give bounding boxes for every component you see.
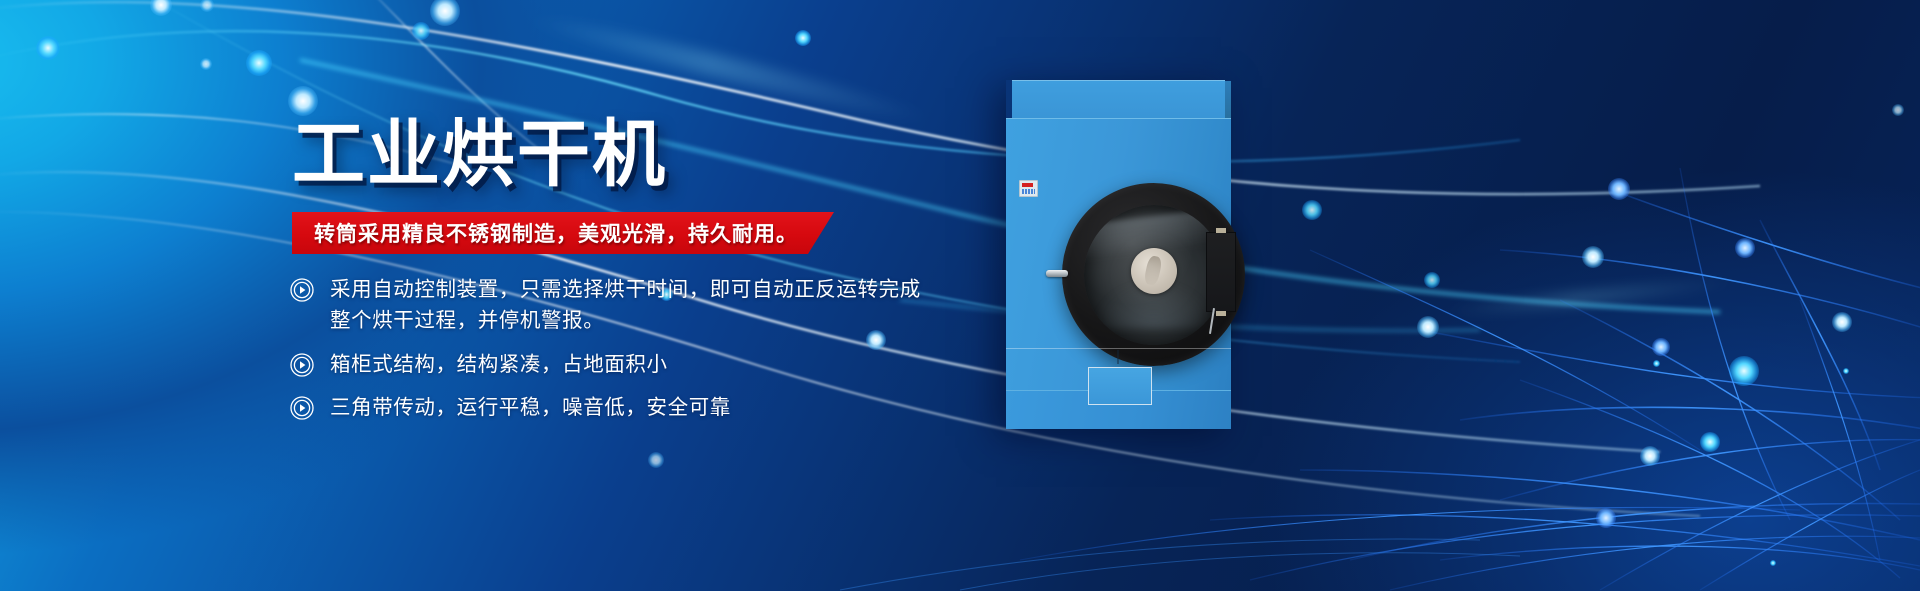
top-left-curves (0, 0, 1760, 516)
panel-keypad (1022, 189, 1035, 194)
feature-line: 整个烘干过程，并停机警报。 (330, 306, 921, 337)
glow-node (412, 22, 430, 40)
circle-play-icon (290, 353, 314, 377)
industrial-dryer-machine (1006, 80, 1231, 428)
glow-node (1417, 316, 1439, 338)
glow-node (1608, 178, 1630, 200)
lint-drawer (1088, 367, 1152, 405)
light-sheen (1440, 274, 1740, 319)
glow-node (1302, 200, 1322, 220)
glow-node (36, 36, 60, 60)
glow-node (200, 58, 212, 70)
list-item: 箱柜式结构，结构紧凑，占地面积小 (290, 350, 1050, 381)
glow-node (1892, 104, 1904, 116)
glow-node (1652, 338, 1670, 356)
machine-seam (1117, 350, 1119, 364)
glow-node (1729, 356, 1759, 386)
list-item: 三角带传动，运行平稳，噪音低，安全可靠 (290, 393, 1050, 424)
glow-node (288, 86, 318, 116)
circle-play-icon (290, 396, 314, 420)
glow-node (150, 0, 172, 16)
hero-title-wrap: 工业烘干机 (292, 118, 667, 191)
glow-node (1735, 238, 1755, 258)
glow-node (246, 50, 272, 76)
door-hinge (1206, 232, 1236, 312)
tagline-text: 转筒采用精良不锈钢制造，美观光滑，持久耐用。 (314, 218, 798, 248)
glow-node (1640, 446, 1660, 466)
glow-node (1832, 312, 1852, 332)
glow-node (795, 30, 811, 46)
door-handle (1046, 270, 1068, 277)
glow-node (1770, 560, 1776, 566)
feature-line: 箱柜式结构，结构紧凑，占地面积小 (330, 350, 668, 381)
circle-play-icon (290, 278, 314, 302)
glow-node (1700, 432, 1720, 452)
feature-list: 采用自动控制装置，只需选择烘干时间，即可自动正反运转完成 整个烘干过程，并停机警… (290, 275, 1050, 437)
machine-top-panel (1012, 80, 1225, 119)
hinge-bolt (1216, 228, 1226, 233)
feature-text: 采用自动控制装置，只需选择烘干时间，即可自动正反运转完成 整个烘干过程，并停机警… (330, 275, 921, 337)
hero-banner: 工业烘干机 转筒采用精良不锈钢制造，美观光滑，持久耐用。 采用自动控制装置，只需… (0, 0, 1920, 591)
glow-node (648, 452, 664, 468)
glow-node (430, 0, 460, 26)
control-panel-icon (1019, 180, 1038, 197)
bottom-mesh (840, 539, 1520, 590)
glow-node (1582, 246, 1604, 268)
list-item: 采用自动控制装置，只需选择烘干时间，即可自动正反运转完成 整个烘干过程，并停机警… (290, 275, 1050, 337)
tagline-banner: 转筒采用精良不锈钢制造，美观光滑，持久耐用。 (292, 212, 834, 254)
glow-node (1653, 360, 1660, 367)
feature-line: 三角带传动，运行平稳，噪音低，安全可靠 (330, 393, 731, 424)
feature-text: 三角带传动，运行平稳，噪音低，安全可靠 (330, 393, 731, 424)
light-sheen (524, 8, 937, 131)
machine-seam (1006, 348, 1231, 349)
glow-node (1424, 272, 1440, 288)
hinge-bolt (1216, 311, 1226, 316)
feature-line: 采用自动控制装置，只需选择烘干时间，即可自动正反运转完成 (330, 275, 921, 306)
page-title: 工业烘干机 (292, 118, 667, 191)
drum-hub (1131, 248, 1177, 294)
glow-node (1843, 368, 1849, 374)
feature-text: 箱柜式结构，结构紧凑，占地面积小 (330, 350, 668, 381)
glow-node (200, 0, 214, 12)
glow-node (1596, 508, 1616, 528)
panel-display (1022, 183, 1033, 187)
